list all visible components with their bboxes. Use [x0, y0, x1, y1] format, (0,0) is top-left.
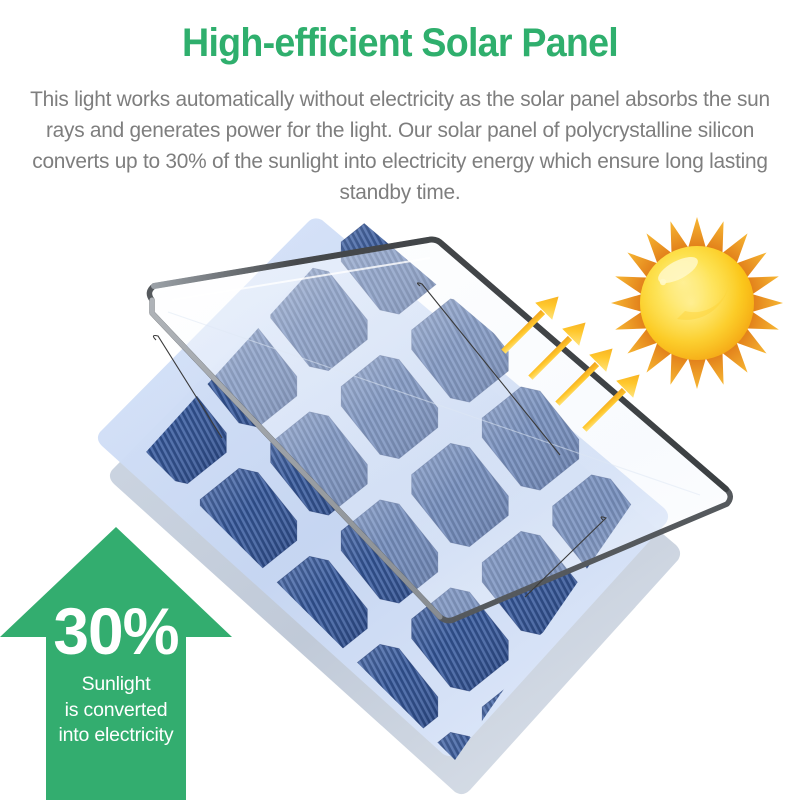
sun-ray [688, 217, 707, 250]
solar-cell [623, 707, 720, 800]
efficiency-caption-line-3: into electricity [0, 723, 232, 749]
efficiency-percent: 30% [3, 598, 228, 664]
efficiency-caption-line-1: Sunlight [0, 672, 232, 698]
efficiency-badge: 30% Sunlight is converted into electrici… [0, 520, 250, 800]
sun-ray [688, 356, 707, 389]
description-paragraph: This light works automatically without e… [26, 84, 775, 208]
sun-icon [611, 217, 783, 389]
efficiency-caption-line-2: is converted [0, 698, 232, 724]
page-title: High-efficient Solar Panel [24, 19, 776, 67]
product-infographic: High-efficient Solar Panel This light wo… [0, 0, 800, 800]
sun-ray [611, 294, 644, 313]
efficiency-caption: Sunlight is converted into electricity [0, 672, 232, 749]
sun-ray [750, 294, 783, 313]
